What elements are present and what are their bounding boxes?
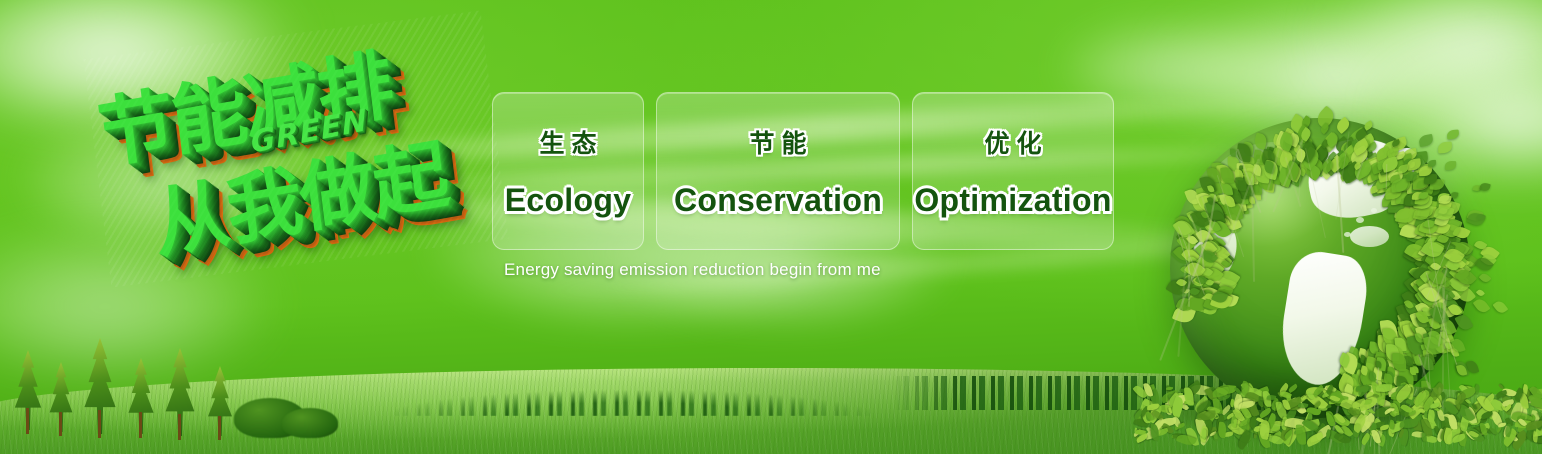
- globe-highlight: [1206, 142, 1344, 250]
- island-dot: [1356, 217, 1364, 223]
- leaf-icon: [1476, 288, 1485, 297]
- continent-isthmus: [1350, 226, 1389, 247]
- tagline: Energy saving emission reduction begin f…: [504, 260, 881, 280]
- tree-trunk: [178, 414, 181, 440]
- tree-trunk: [26, 408, 29, 434]
- earth-globe: [1170, 118, 1470, 418]
- cloud-icon: [1170, 10, 1500, 130]
- continent-greenland: [1380, 148, 1428, 202]
- leaf-icon: [1479, 182, 1491, 192]
- card-title-cn: 优化: [977, 124, 1048, 160]
- leaf-icon: [1455, 360, 1470, 377]
- island-dot: [1371, 208, 1377, 213]
- cloud-icon: [1330, 0, 1542, 104]
- bush-icon: [282, 408, 338, 438]
- eco-banner: 节能减排 GREEN 从我做起 生态 Ecology 节能 Conservati…: [0, 0, 1542, 454]
- leaf-icon: [1480, 244, 1500, 263]
- leaf-icon: [1446, 130, 1459, 140]
- card-title-cn: 生态: [532, 124, 603, 160]
- feature-card-optimization[interactable]: 优化 Optimization: [912, 92, 1114, 250]
- feature-card-ecology[interactable]: 生态 Ecology: [492, 92, 644, 250]
- card-title-en: Conservation: [674, 182, 882, 219]
- continent-south-america: [1274, 248, 1372, 391]
- tree-trunk: [139, 412, 142, 438]
- tree-trunk: [218, 416, 221, 440]
- leaf-icon: [1456, 364, 1467, 377]
- leaf-icon: [1418, 133, 1434, 146]
- globe-sphere: [1170, 118, 1470, 418]
- tree-trunk: [59, 412, 62, 436]
- leaf-icon: [1473, 239, 1487, 252]
- island-dot: [1335, 160, 1345, 167]
- leaf-icon: [1421, 380, 1431, 393]
- feature-card-conservation[interactable]: 节能 Conservation: [656, 92, 900, 250]
- leaf-icon: [1479, 272, 1492, 285]
- leaf-icon: [1472, 184, 1481, 192]
- leaf-icon: [1445, 160, 1456, 169]
- leaf-icon: [1480, 252, 1497, 268]
- leaf-icon: [1450, 347, 1460, 358]
- leaf-icon: [1466, 207, 1484, 223]
- leaf-icon: [1493, 299, 1509, 315]
- card-title-en: Ecology: [505, 182, 632, 219]
- feature-card-group: 生态 Ecology 节能 Conservation 优化 Optimizati…: [492, 92, 1114, 250]
- island-dot: [1344, 232, 1351, 237]
- leaf-icon: [1451, 337, 1466, 354]
- leaf-icon: [1476, 213, 1486, 222]
- leaf-icon: [1474, 255, 1494, 274]
- card-title-en: Optimization: [914, 182, 1111, 219]
- leaf-icon: [1467, 211, 1486, 228]
- hero-title-3d: 节能减排 GREEN 从我做起: [83, 10, 508, 287]
- leaf-icon: [1438, 141, 1453, 153]
- leaf-icon: [1472, 296, 1490, 314]
- tree-trunk: [98, 410, 101, 438]
- card-title-cn: 节能: [742, 124, 813, 160]
